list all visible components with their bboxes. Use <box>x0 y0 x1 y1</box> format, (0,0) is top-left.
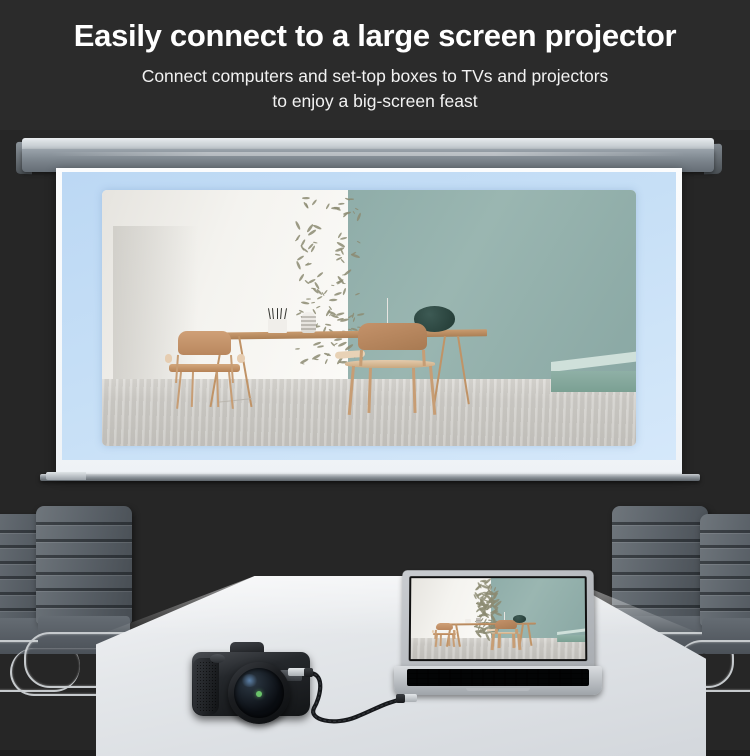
foliage-leaf <box>296 255 304 261</box>
wooden-armchair-right <box>488 620 523 652</box>
chair-rib <box>36 539 132 542</box>
foliage-leaf <box>311 301 315 303</box>
camera-lens <box>228 662 290 724</box>
chair-rib <box>700 530 750 533</box>
vase-ridge <box>301 324 316 326</box>
chair-leg <box>435 635 439 647</box>
foliage-leaf <box>311 199 317 206</box>
chair-backrest <box>494 620 516 628</box>
chair-armrest <box>165 354 172 363</box>
laptop-screen-content <box>411 578 586 659</box>
ceramic-vase <box>301 312 316 332</box>
foliage-leaf <box>353 211 356 215</box>
laptop-keyboard[interactable] <box>407 669 589 686</box>
chair-leg <box>515 628 518 633</box>
chair-backrest <box>358 323 426 350</box>
laptop-trackpad[interactable] <box>466 688 530 691</box>
chair-rib <box>700 592 750 595</box>
subtitle-line-2: to enjoy a big-screen feast <box>0 89 750 114</box>
chair-rib <box>700 561 750 564</box>
chair-leg <box>429 366 436 415</box>
camera-grip-texture <box>196 661 216 712</box>
foliage-leaf <box>306 298 311 300</box>
laptop-screen[interactable] <box>409 576 588 661</box>
foliage-leaf <box>304 263 311 266</box>
hdmi-plug-tip-camera <box>304 668 313 677</box>
foliage-leaf <box>296 261 302 270</box>
interior-room-scene <box>102 190 636 446</box>
promo-header: Easily connect to a large screen project… <box>0 0 750 130</box>
projector-screen-housing-bar <box>22 138 714 172</box>
foliage-leaf <box>295 348 300 350</box>
chair-rib <box>612 605 708 608</box>
chair-leg <box>412 368 416 413</box>
page-subtitle: Connect computers and set-top boxes to T… <box>0 51 750 114</box>
pencil-cup <box>465 619 471 623</box>
ceramic-vase <box>476 617 481 623</box>
vase-ridge <box>301 316 316 318</box>
foliage-leaf <box>316 272 323 278</box>
foliage-leaf <box>317 345 324 348</box>
housing-highlight <box>50 152 687 156</box>
foliage-leaf <box>325 358 329 364</box>
laptop-lid <box>402 570 595 670</box>
wooden-armchair-left <box>163 331 246 418</box>
wooden-armchair-right <box>337 323 444 425</box>
chair-backrest <box>178 331 231 355</box>
chair-backrest <box>700 514 750 626</box>
green-step-plinth <box>551 362 636 393</box>
foliage-leaf <box>316 296 322 300</box>
chair-rib <box>700 545 750 548</box>
chair-leg <box>367 368 371 413</box>
chair-rib <box>612 539 708 542</box>
projector-screen-weight-bar <box>40 474 700 481</box>
chair-backrest <box>436 623 453 631</box>
chair-rib <box>36 522 132 525</box>
foliage-leaf <box>340 237 348 240</box>
chair-rib <box>700 576 750 579</box>
green-step-plinth <box>557 632 585 642</box>
chair-rib <box>700 608 750 611</box>
plinth-front-face <box>551 371 636 393</box>
page-title: Easily connect to a large screen project… <box>0 0 750 51</box>
chair-backrest <box>612 506 708 624</box>
vase-ridge <box>301 320 316 322</box>
chair-rib <box>36 572 132 575</box>
chair-leg <box>448 635 451 646</box>
chair-seat <box>169 364 240 372</box>
chair-rib <box>612 588 708 591</box>
foliage-leaf <box>316 306 321 309</box>
foliage-leaf <box>329 299 337 301</box>
foliage-leaf <box>302 197 310 200</box>
laptop-base <box>394 666 602 695</box>
pull-down-projector-screen <box>0 130 750 490</box>
foliage-leaf <box>343 211 351 215</box>
chair-backrest <box>36 506 132 624</box>
chair-leg <box>216 372 220 407</box>
foliage-leaf <box>331 284 335 286</box>
foliage-leaf <box>294 220 300 230</box>
laptop-computer[interactable] <box>394 570 602 695</box>
foliage-leaf <box>301 301 310 305</box>
chair-leg <box>348 366 355 415</box>
pencil <box>277 308 278 320</box>
foliage-leaf <box>334 292 342 296</box>
camera-grip <box>193 658 219 715</box>
foliage-leaf <box>295 235 301 241</box>
wooden-armchair-left <box>431 623 458 651</box>
foliage-leaf <box>338 203 345 205</box>
chair-leg <box>512 634 515 648</box>
chair-rib <box>612 522 708 525</box>
foliage-leaf <box>342 288 347 296</box>
chair-leg <box>495 628 498 633</box>
chair-leg <box>497 634 500 648</box>
chair-leg <box>517 634 521 650</box>
foliage-leaf <box>333 206 341 211</box>
vase-ridge <box>301 328 316 330</box>
foliage-leaf <box>336 312 345 316</box>
camera-mode-dial[interactable] <box>210 654 225 663</box>
vase-ridge <box>476 622 481 624</box>
chair-leg <box>190 372 194 407</box>
pencils <box>270 308 286 320</box>
hdmi-cable <box>300 668 420 730</box>
foliage-leaf <box>325 203 330 209</box>
projected-image <box>102 190 636 446</box>
pencil-cup <box>268 319 287 332</box>
plinth-front-face <box>557 635 585 642</box>
lens-reflection <box>241 674 258 687</box>
hdmi-plug-tip-laptop <box>396 694 405 703</box>
chair-leg <box>440 635 443 646</box>
foliage-leaf <box>342 274 346 276</box>
conference-room-scene <box>0 490 750 750</box>
lens-glass <box>234 668 284 718</box>
chair-rib <box>36 605 132 608</box>
chair-rib <box>612 572 708 575</box>
dslr-camera[interactable] <box>192 642 310 720</box>
subtitle-line-1: Connect computers and set-top boxes to T… <box>0 64 750 89</box>
chair-rib <box>36 555 132 558</box>
chair-rib <box>612 555 708 558</box>
screen-fabric <box>56 168 682 476</box>
foliage-leaf <box>341 259 346 264</box>
chair-rib <box>36 588 132 591</box>
screen-pull-tab <box>46 472 86 480</box>
lens-highlight <box>256 691 262 697</box>
chair-leg <box>491 634 495 650</box>
chair-armrest <box>237 354 244 363</box>
chair-leg <box>422 350 425 366</box>
